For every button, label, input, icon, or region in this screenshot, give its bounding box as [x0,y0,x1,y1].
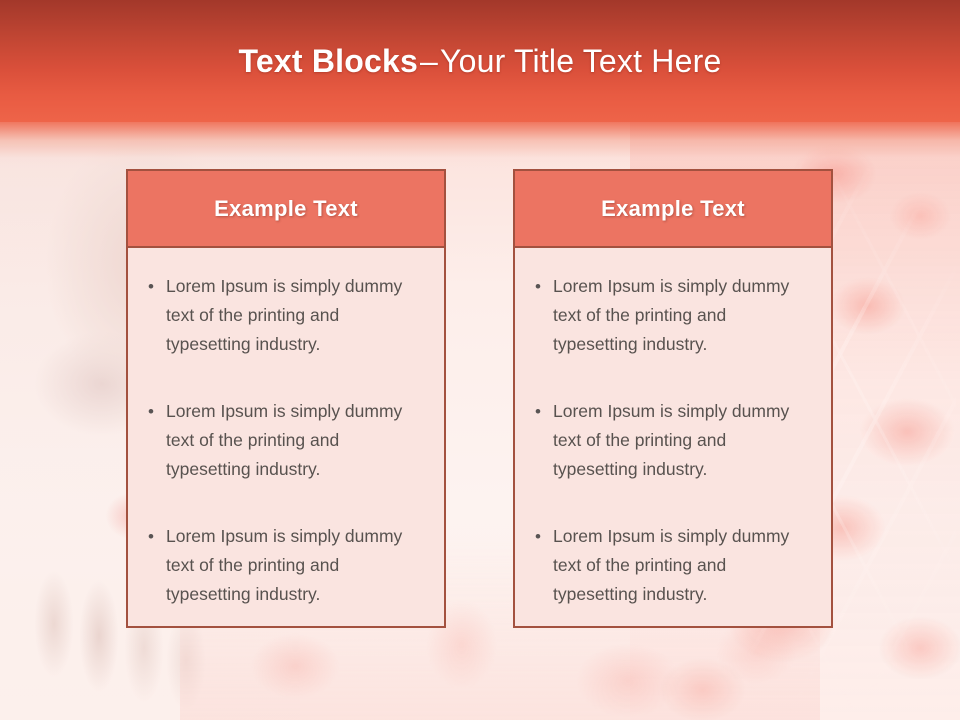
text-block-card-left[interactable]: Example Text • Lorem Ipsum is simply dum… [126,169,446,628]
page-title-separator: – [418,43,440,80]
card-header-label: Example Text [214,196,358,222]
bullet-text: Lorem Ipsum is simply dummy text of the … [553,522,815,609]
page-title: Text Blocks – Your Title Text Here [0,0,960,122]
bullet-dot-icon: • [136,397,166,426]
title-banner-fade [0,122,960,168]
bullet-list-right: • Lorem Ipsum is simply dummy text of th… [523,272,815,609]
list-item: • Lorem Ipsum is simply dummy text of th… [523,522,815,609]
list-item: • Lorem Ipsum is simply dummy text of th… [136,522,428,609]
bullet-text: Lorem Ipsum is simply dummy text of the … [166,522,428,609]
card-header-right: Example Text [515,171,831,248]
list-item: • Lorem Ipsum is simply dummy text of th… [136,272,428,359]
bullet-text: Lorem Ipsum is simply dummy text of the … [166,397,428,484]
bullet-text: Lorem Ipsum is simply dummy text of the … [553,397,815,484]
bullet-dot-icon: • [136,522,166,551]
bullet-dot-icon: • [523,522,553,551]
bullet-text: Lorem Ipsum is simply dummy text of the … [553,272,815,359]
bullet-text: Lorem Ipsum is simply dummy text of the … [166,272,428,359]
text-block-card-right[interactable]: Example Text • Lorem Ipsum is simply dum… [513,169,833,628]
list-item: • Lorem Ipsum is simply dummy text of th… [523,272,815,359]
bullet-dot-icon: • [523,272,553,301]
bullet-dot-icon: • [523,397,553,426]
list-item: • Lorem Ipsum is simply dummy text of th… [523,397,815,484]
presentation-slide: Text Blocks – Your Title Text Here Examp… [0,0,960,720]
list-item: • Lorem Ipsum is simply dummy text of th… [136,397,428,484]
card-header-left: Example Text [128,171,444,248]
page-title-regular: Your Title Text Here [440,43,721,80]
card-header-label: Example Text [601,196,745,222]
page-title-bold: Text Blocks [239,43,418,80]
bullet-list-left: • Lorem Ipsum is simply dummy text of th… [136,272,428,609]
bullet-dot-icon: • [136,272,166,301]
card-body-right: • Lorem Ipsum is simply dummy text of th… [515,248,831,626]
card-body-left: • Lorem Ipsum is simply dummy text of th… [128,248,444,626]
